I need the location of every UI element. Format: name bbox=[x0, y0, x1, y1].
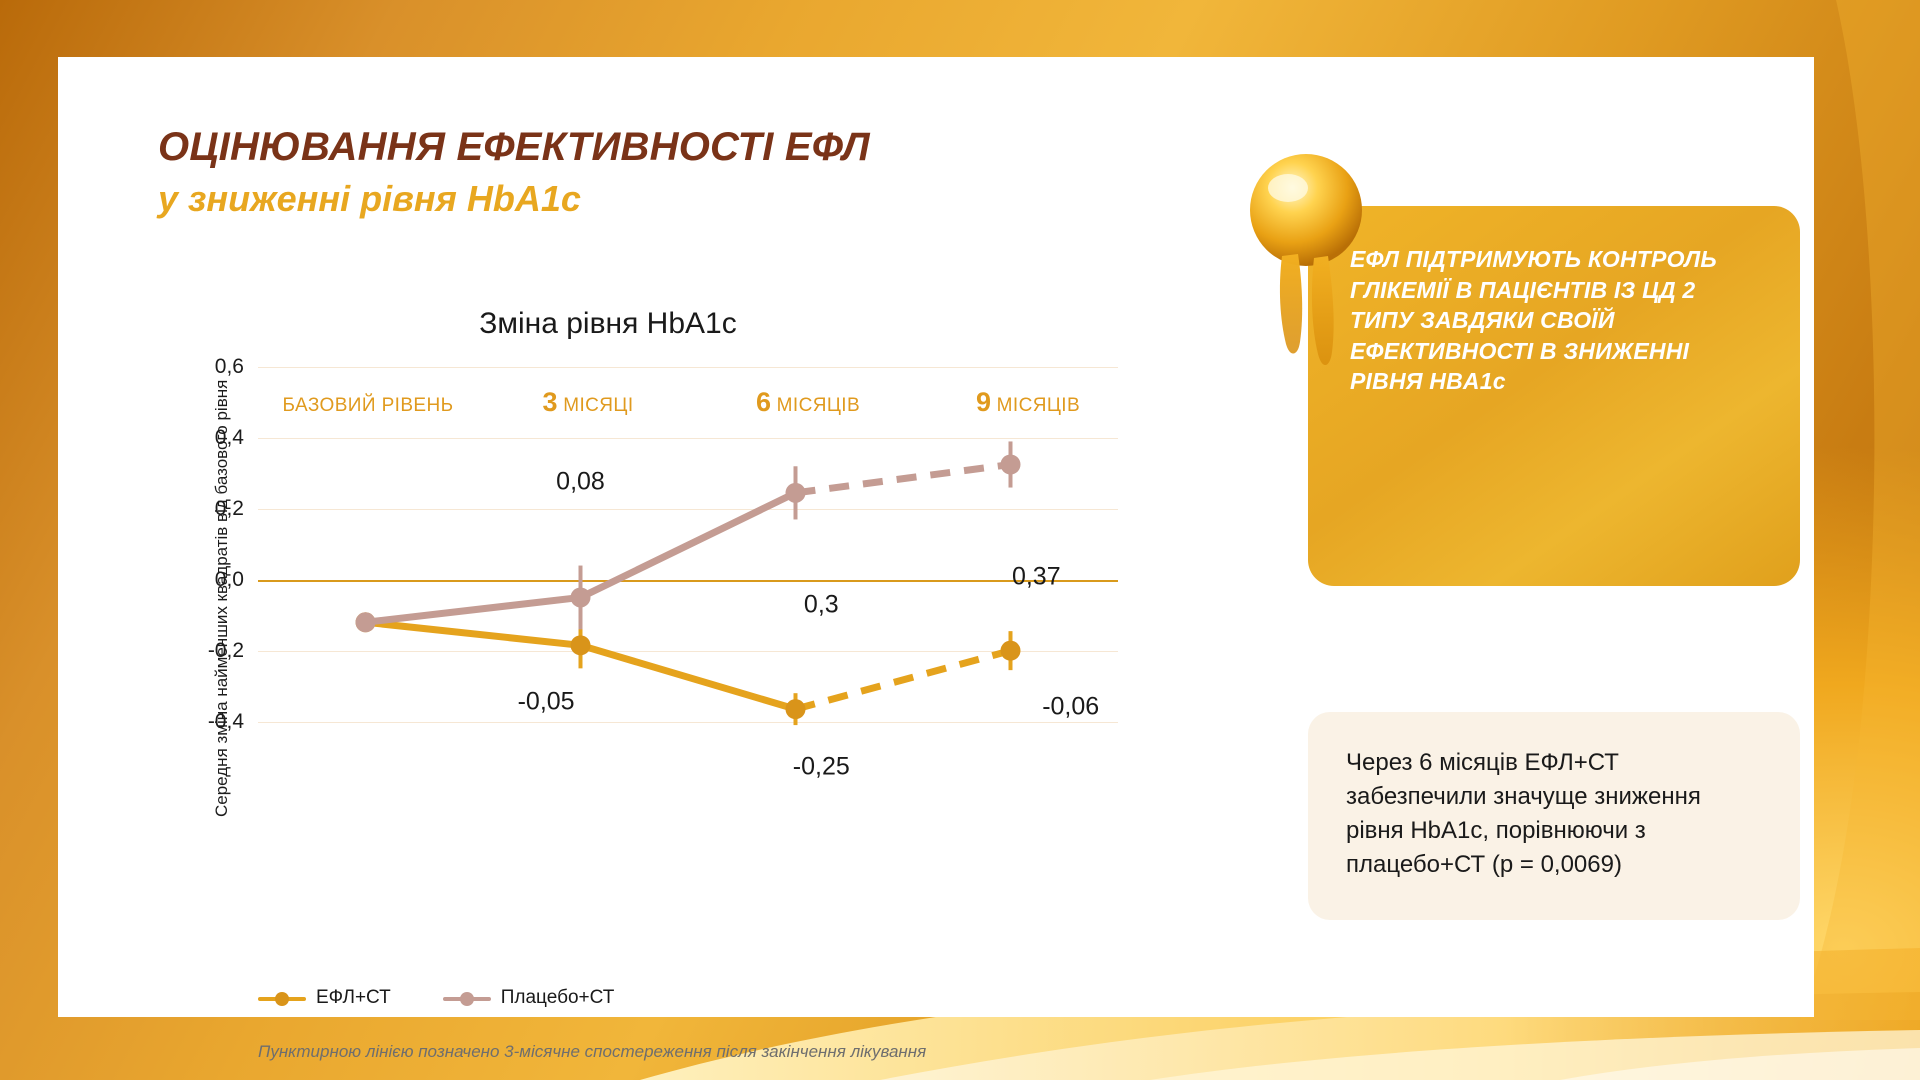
legend-swatch-efl-icon bbox=[258, 991, 306, 1005]
page-subtitle: у зниженні рівня HbA1c bbox=[158, 178, 870, 220]
y-tick-0.0: 0,0 bbox=[215, 568, 244, 592]
y-tick-0.2: 0,2 bbox=[215, 497, 244, 521]
legend-item-placebo[interactable]: Плацебо+СТ bbox=[443, 987, 615, 1009]
y-tick-0.6: 0,6 bbox=[215, 355, 244, 379]
data-label-efl-3m: -0,05 bbox=[518, 688, 575, 717]
y-tick-0.4: 0,4 bbox=[215, 426, 244, 450]
note-panel: Через 6 місяців ЕФЛ+СТ забезпечили значу… bbox=[1308, 712, 1800, 920]
chart-footnote: Пунктирною лінією позначено 3-місячне сп… bbox=[258, 1042, 926, 1062]
data-label-placebo-3m: 0,08 bbox=[556, 468, 605, 497]
data-label-placebo-6m: 0,3 bbox=[804, 591, 839, 620]
chart-container: Середня зміна найменших квадратів від ба… bbox=[88, 297, 1318, 997]
legend-label-efl: ЕФЛ+СТ bbox=[316, 987, 391, 1009]
honey-drop-icon bbox=[1238, 148, 1388, 378]
page-title: ОЦІНЮВАННЯ ЕФЕКТИВНОСТІ ЕФЛ bbox=[158, 125, 870, 170]
chart-title: Зміна рівня HbA1c bbox=[88, 307, 1128, 341]
y-tick--0.4: -0,4 bbox=[208, 710, 244, 734]
data-label-efl-6m: -0,25 bbox=[793, 753, 850, 782]
highlight-panel-text: ЕФЛ ПІДТРИМУЮТЬ КОНТРОЛЬ ГЛІКЕМІЇ В ПАЦІ… bbox=[1350, 244, 1758, 397]
title-block: ОЦІНЮВАННЯ ЕФЕКТИВНОСТІ ЕФЛ у зниженні р… bbox=[158, 125, 870, 220]
note-panel-text: Через 6 місяців ЕФЛ+СТ забезпечили значу… bbox=[1346, 746, 1762, 882]
chart-legend: ЕФЛ+СТ Плацебо+СТ bbox=[258, 987, 614, 1009]
data-label-efl-9m: -0,06 bbox=[1042, 693, 1099, 722]
y-tick--0.2: -0,2 bbox=[208, 639, 244, 663]
series-graphics bbox=[258, 367, 1118, 757]
plot-area: 0,6 0,4 0,2 0,0 -0,2 -0,4 0,08 0,3 0,37 bbox=[258, 367, 1118, 757]
data-label-placebo-9m: 0,37 bbox=[1012, 563, 1061, 592]
legend-item-efl[interactable]: ЕФЛ+СТ bbox=[258, 987, 391, 1009]
legend-swatch-placebo-icon bbox=[443, 991, 491, 1005]
legend-label-placebo: Плацебо+СТ bbox=[501, 987, 615, 1009]
